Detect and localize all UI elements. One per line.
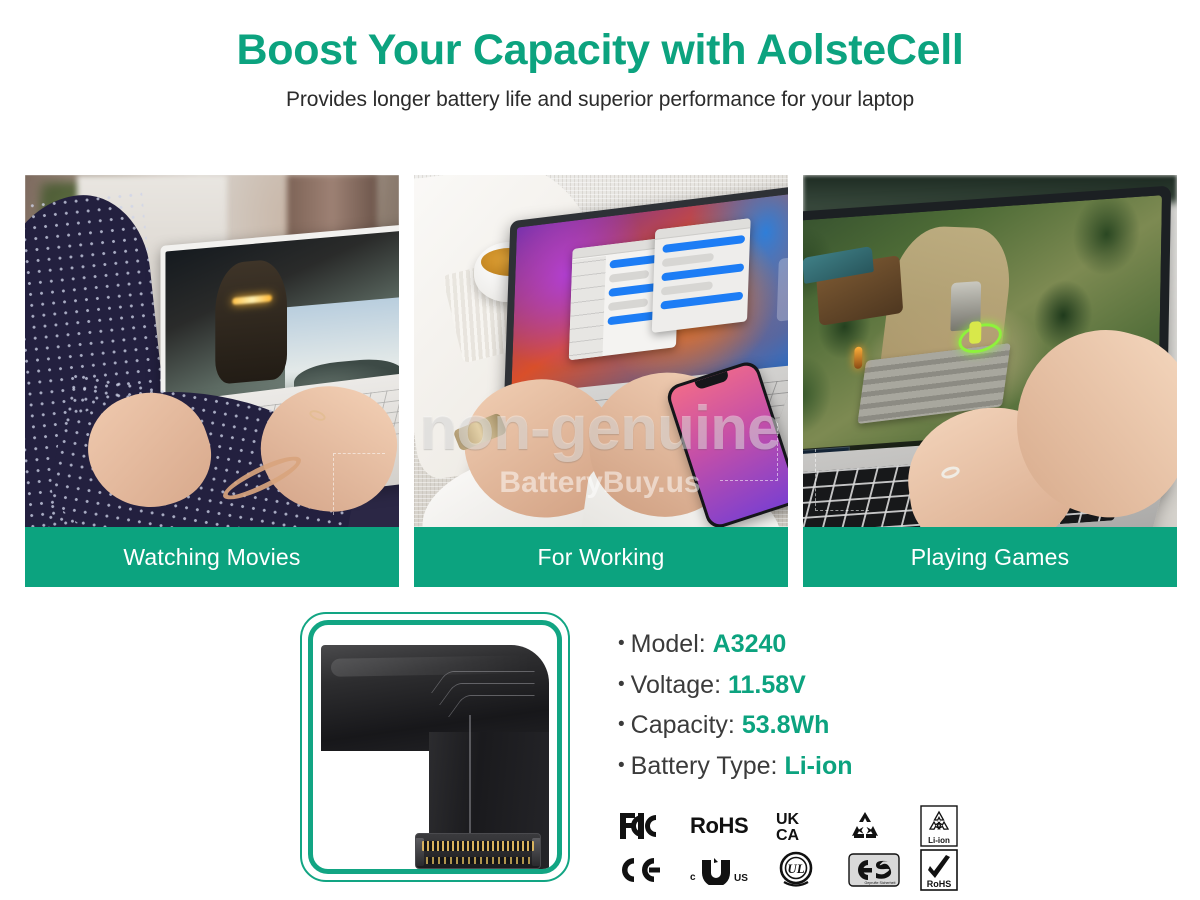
chat-bubble bbox=[661, 282, 712, 296]
usecase-panel-watching-movies[interactable]: Watching Movies bbox=[25, 175, 399, 587]
spec-item-model: •Model: A3240 bbox=[618, 624, 1200, 665]
spec-list: •Model: A3240 •Voltage: 11.58V •Capacity… bbox=[618, 624, 1200, 786]
ce-icon bbox=[618, 849, 690, 891]
page-header: Boost Your Capacity with AolsteCell Prov… bbox=[0, 0, 1200, 112]
panel-caption-playing-games: Playing Games bbox=[803, 527, 1177, 587]
connector-tail bbox=[402, 869, 439, 874]
chat-bubble bbox=[660, 292, 743, 310]
spec-value: Li-ion bbox=[784, 752, 852, 780]
spec-value: 53.8Wh bbox=[742, 711, 830, 739]
spec-item-voltage: •Voltage: 11.58V bbox=[618, 665, 1200, 706]
gold-pins bbox=[422, 841, 534, 851]
panel-caption-watching-movies: Watching Movies bbox=[25, 527, 399, 587]
spec-value: A3240 bbox=[713, 630, 787, 658]
svg-text:c: c bbox=[690, 872, 696, 883]
spec-label: Battery Type: bbox=[631, 752, 778, 780]
svg-text:CA: CA bbox=[776, 827, 800, 843]
ul-icon: UL bbox=[776, 849, 848, 891]
macos-dock bbox=[776, 258, 788, 323]
rohs-text-icon: RoHS bbox=[690, 805, 776, 847]
bullet-icon: • bbox=[618, 633, 625, 654]
game-trees-left bbox=[803, 202, 896, 462]
usecase-panel-row: Watching Movies bbox=[25, 175, 1177, 587]
spec-item-battery-type: •Battery Type: Li-ion bbox=[618, 746, 1200, 787]
recycle-icon bbox=[848, 805, 920, 847]
fcc-icon bbox=[618, 805, 690, 847]
spec-label: Model: bbox=[631, 630, 706, 658]
certification-row-1: RoHS UK CA bbox=[618, 804, 1200, 848]
culus-icon: c US bbox=[690, 849, 776, 891]
ukca-icon: UK CA bbox=[776, 805, 848, 847]
gs-icon: Geprufte Sicherheit bbox=[848, 849, 920, 891]
product-section: •Model: A3240 •Voltage: 11.58V •Capacity… bbox=[0, 612, 1200, 900]
spec-label: Capacity: bbox=[631, 711, 735, 739]
bullet-icon: • bbox=[618, 714, 625, 735]
svg-text:US: US bbox=[734, 873, 748, 884]
secondary-window bbox=[652, 219, 751, 334]
game-hero bbox=[969, 320, 981, 343]
svg-text:UK: UK bbox=[776, 811, 800, 828]
spec-value: 11.58V bbox=[728, 671, 806, 699]
product-image-wrap bbox=[0, 612, 600, 900]
bullet-icon: • bbox=[618, 674, 625, 695]
connector-seam bbox=[469, 715, 471, 835]
chat-bubble bbox=[609, 270, 649, 283]
svg-text:UL: UL bbox=[787, 861, 804, 876]
chat-bubble bbox=[662, 253, 713, 267]
product-frame-inner bbox=[308, 620, 562, 874]
chat-bubble bbox=[661, 264, 744, 282]
li-ion-recycle-icon: Li-ion bbox=[920, 805, 992, 847]
spec-item-capacity: •Capacity: 53.8Wh bbox=[618, 705, 1200, 746]
connector-plug bbox=[415, 833, 541, 869]
photo-for-working bbox=[414, 175, 788, 527]
usecase-panel-for-working[interactable]: For Working bbox=[414, 175, 788, 587]
chat-bubbles bbox=[660, 235, 745, 316]
svg-text:RoHS: RoHS bbox=[927, 879, 952, 889]
svg-text:Geprufte Sicherheit: Geprufte Sicherheit bbox=[865, 881, 896, 885]
spec-label: Voltage: bbox=[631, 671, 721, 699]
movie-character bbox=[215, 258, 287, 385]
gold-pins-row2 bbox=[426, 857, 530, 864]
chat-bubble bbox=[662, 235, 745, 253]
certification-badges: RoHS UK CA bbox=[618, 804, 1200, 892]
page-subtitle: Provides longer battery life and superio… bbox=[0, 88, 1200, 112]
photo-watching-movies bbox=[25, 175, 399, 527]
rohs-label: RoHS bbox=[690, 813, 748, 839]
rohs-check-icon: RoHS bbox=[920, 849, 992, 891]
bullet-icon: • bbox=[618, 755, 625, 776]
battery-connector-image bbox=[317, 637, 562, 874]
window-sidebar bbox=[569, 256, 606, 360]
chat-bubble bbox=[608, 298, 648, 311]
product-frame-outer bbox=[300, 612, 570, 882]
photo-playing-games bbox=[803, 175, 1177, 527]
specs-wrap: •Model: A3240 •Voltage: 11.58V •Capacity… bbox=[600, 612, 1200, 900]
page-title: Boost Your Capacity with AolsteCell bbox=[0, 26, 1200, 74]
svg-text:Li-ion: Li-ion bbox=[928, 836, 950, 845]
panel-caption-for-working: For Working bbox=[414, 527, 788, 587]
usecase-panel-playing-games[interactable]: Playing Games bbox=[803, 175, 1177, 587]
game-torch bbox=[855, 346, 863, 369]
certification-row-2: c US UL bbox=[618, 848, 1200, 892]
